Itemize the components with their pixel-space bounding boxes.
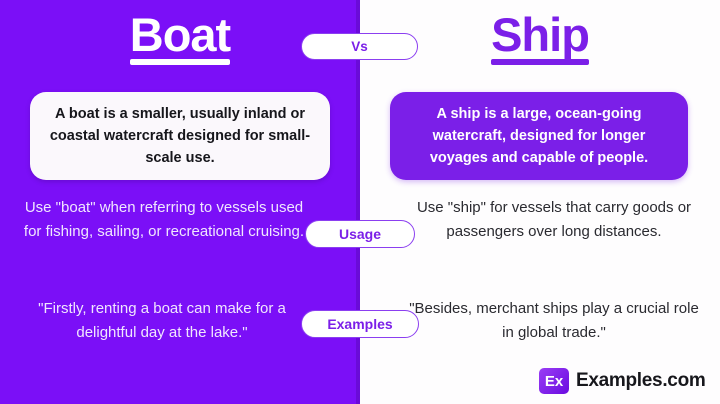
logo-mark-icon: Ex (539, 368, 569, 394)
badge-usage: Usage (305, 220, 415, 248)
right-usage-text: Use "ship" for vessels that carry goods … (408, 196, 700, 245)
site-logo[interactable]: Ex Examples.com (539, 368, 705, 394)
badge-examples: Examples (301, 310, 419, 338)
left-heading-label: Boat (130, 8, 230, 61)
left-usage-text: Use "boat" when referring to vessels use… (18, 196, 310, 245)
left-example-text: "Firstly, renting a boat can make for a … (14, 297, 310, 346)
right-heading-underline (491, 59, 589, 65)
comparison-infographic: Boat Ship A boat is a smaller, usually i… (0, 0, 720, 404)
left-heading-underline (130, 59, 230, 65)
right-definition-card: A ship is a large, ocean-going watercraf… (390, 92, 688, 180)
right-heading-label: Ship (491, 8, 589, 61)
logo-wordmark: Examples.com (576, 370, 705, 392)
right-example-text: "Besides, merchant ships play a crucial … (404, 297, 704, 346)
left-definition-card: A boat is a smaller, usually inland or c… (30, 92, 330, 180)
badge-vs: Vs (301, 33, 418, 60)
